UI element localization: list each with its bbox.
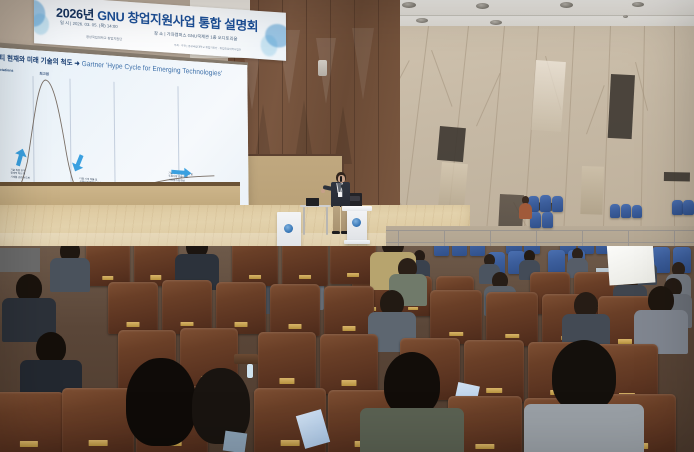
seat <box>232 246 278 286</box>
wall-opening <box>580 166 604 215</box>
seat <box>258 332 316 392</box>
peak-label: 최고점 <box>39 71 48 77</box>
seat <box>430 290 482 344</box>
seat <box>324 286 374 338</box>
banner-fine-print: 주최 · 주관 | 경상국립대학교 창업지원단 · 창업중심대학사업단 <box>174 43 241 52</box>
seat <box>216 282 266 334</box>
arrow-up-icon <box>13 147 27 168</box>
podium-emblem <box>284 224 293 233</box>
handout <box>223 431 248 452</box>
podium-top <box>342 206 372 211</box>
seat <box>62 388 134 452</box>
wall-recess <box>664 172 690 181</box>
handout <box>607 246 656 286</box>
banner-title-main: 창업지원사업 통합 설명회 <box>128 11 259 34</box>
rear-seat <box>540 195 551 212</box>
arrow-right-icon <box>170 166 192 180</box>
seat <box>282 246 328 286</box>
ceiling-light <box>560 2 573 8</box>
seat <box>320 334 378 394</box>
auditorium-photo: 리얼리티 현재와 미래 기술의 척도 ➜ Gartner 'Hype Cycle… <box>0 0 694 452</box>
ceiling-light <box>402 2 416 8</box>
seat-armrest <box>234 354 258 364</box>
wall-recess <box>608 74 635 139</box>
wall-recess <box>437 126 466 162</box>
rear-seat <box>632 205 642 218</box>
seat <box>452 246 467 256</box>
ceiling-light <box>632 2 644 7</box>
seat <box>0 392 64 452</box>
seat <box>162 280 212 334</box>
banner-logos: 경상국립대학교 창업지원단 <box>86 34 122 42</box>
ceiling-light <box>623 15 628 18</box>
ceiling-light <box>490 20 502 25</box>
ceiling-light <box>416 18 428 23</box>
seat <box>108 282 158 334</box>
seat <box>434 246 449 256</box>
ceiling-light <box>476 3 489 9</box>
name-badge <box>338 192 342 197</box>
av-table-leg <box>326 207 328 235</box>
rear-seat <box>672 200 683 215</box>
laptop <box>306 198 319 206</box>
slide-note: 기술 촉발 단계 잠재적 혁신 및 시제품 관련 보도화 <box>10 169 29 180</box>
seat <box>486 292 538 346</box>
aisle-floor <box>0 248 40 272</box>
av-table-leg <box>303 207 305 235</box>
wall-opening <box>531 60 566 132</box>
rear-seat <box>683 200 694 215</box>
audience-seating <box>0 246 694 452</box>
arrow-down-icon <box>71 153 85 174</box>
podium-base <box>344 240 370 244</box>
podium-emblem <box>352 218 361 227</box>
rear-seat <box>552 196 563 212</box>
seat <box>548 250 565 274</box>
rear-seat <box>542 212 553 228</box>
seat <box>270 284 320 336</box>
microphone <box>340 176 342 182</box>
rear-seat <box>610 204 620 218</box>
seat <box>470 246 485 256</box>
seat <box>86 246 130 286</box>
water-bottle <box>247 364 253 378</box>
ceiling-speaker <box>318 60 327 76</box>
wall-opening <box>438 162 468 210</box>
rear-seat <box>621 204 631 218</box>
